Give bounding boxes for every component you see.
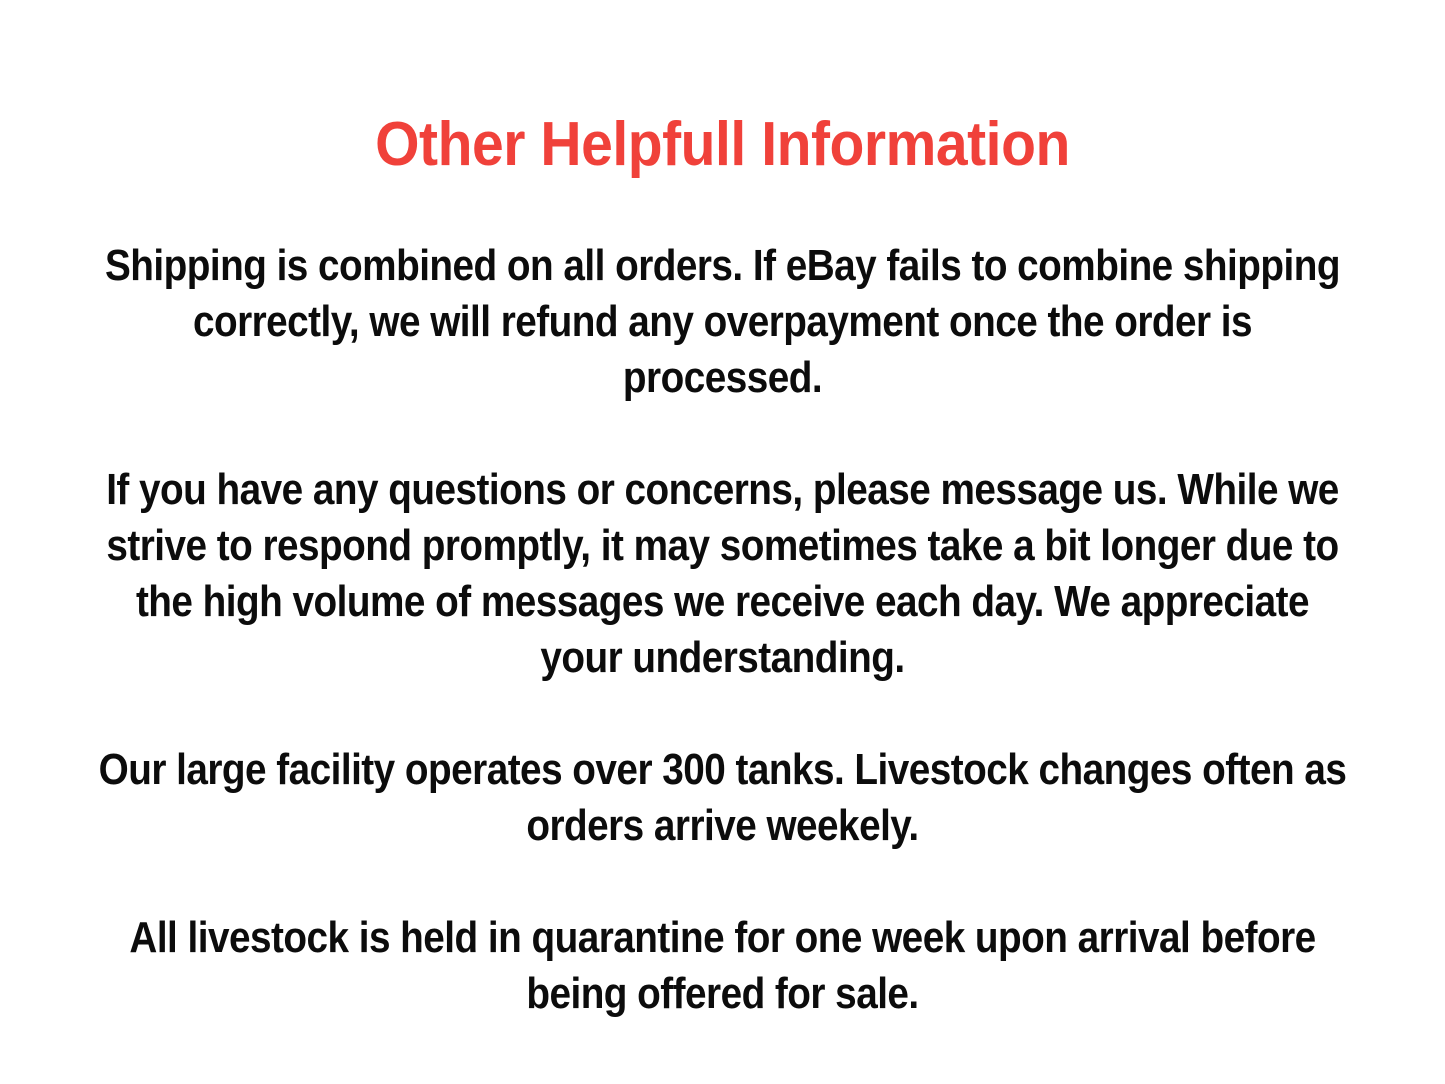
paragraph-message-response: If you have any questions or concerns, p… [90,406,1355,686]
paragraph-quarantine-policy: All livestock is held in quarantine for … [90,854,1355,1022]
paragraph-facility-tanks: Our large facility operates over 300 tan… [90,686,1355,854]
info-page: Other Helpfull Information Shipping is c… [0,0,1445,1084]
page-title: Other Helpfull Information [58,0,1387,182]
info-content: Other Helpfull Information Shipping is c… [0,0,1445,1022]
info-paragraph-list: Shipping is combined on all orders. If e… [0,182,1445,1022]
paragraph-shipping-combined: Shipping is combined on all orders. If e… [90,182,1355,406]
